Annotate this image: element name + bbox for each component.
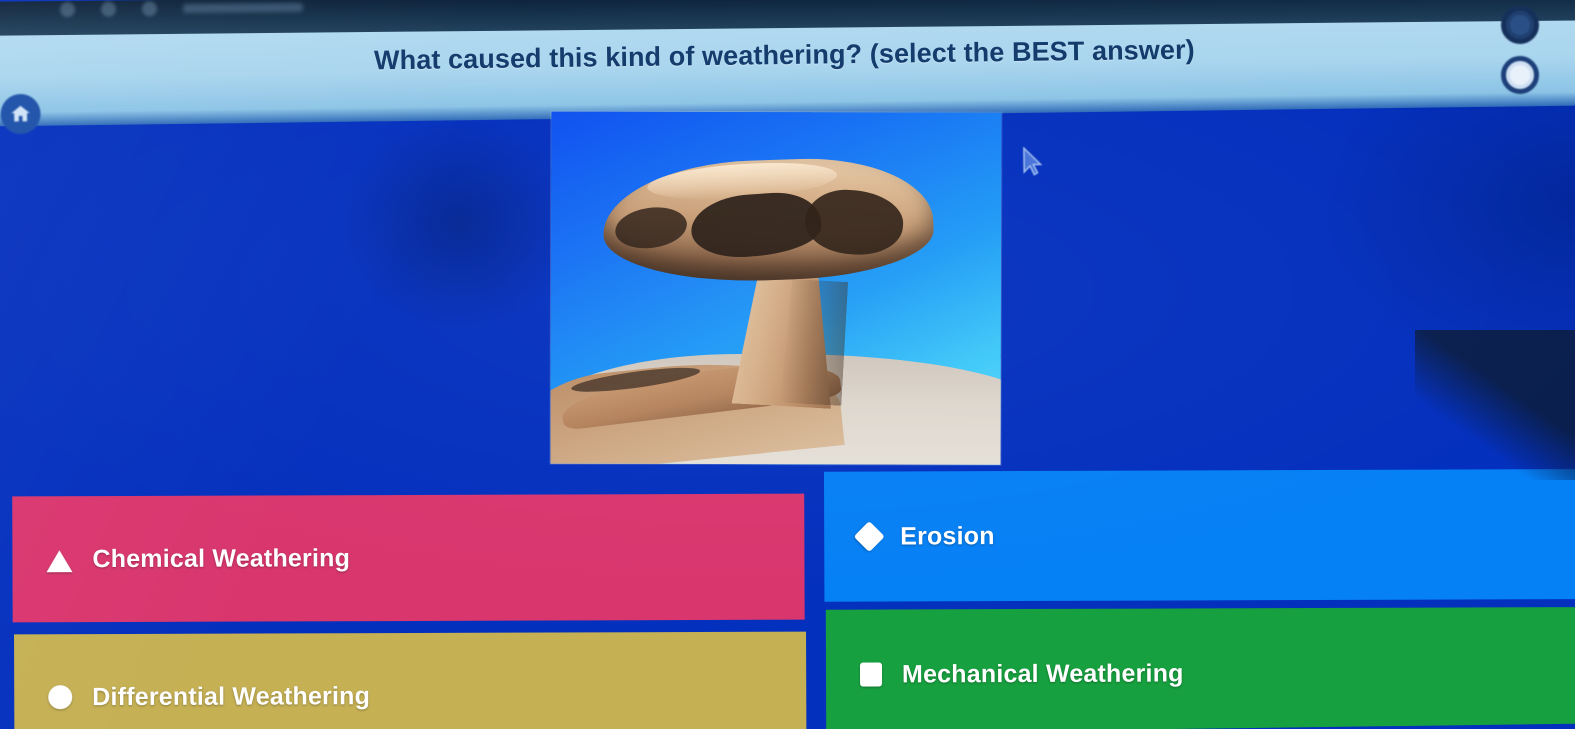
answer-option-mechanical-weathering[interactable]: Mechanical Weathering bbox=[826, 607, 1575, 729]
question-text: What caused this kind of weathering? (se… bbox=[0, 29, 1575, 82]
triangle-icon bbox=[46, 550, 72, 572]
circle-icon[interactable] bbox=[1501, 56, 1539, 94]
mouse-pointer-icon bbox=[1021, 147, 1043, 177]
answer-option-differential-weathering[interactable]: Differential Weathering bbox=[14, 632, 806, 729]
square-icon bbox=[860, 662, 882, 686]
top-right-icon-group bbox=[1501, 6, 1539, 94]
answer-grid: Chemical Weathering Erosion Differential… bbox=[0, 459, 1575, 729]
screen-content-plane: What caused this kind of weathering? (se… bbox=[0, 0, 1575, 729]
browser-tab-strip bbox=[60, 0, 303, 17]
circle-icon-inner bbox=[1510, 15, 1530, 35]
circle-icon[interactable] bbox=[1501, 6, 1539, 44]
circle-icon bbox=[48, 685, 72, 709]
screen-bezel-shadow bbox=[1415, 330, 1575, 480]
answer-label: Mechanical Weathering bbox=[902, 659, 1184, 689]
tab-favicon bbox=[101, 2, 116, 17]
tab-title-bar bbox=[183, 3, 303, 13]
answer-option-erosion[interactable]: Erosion bbox=[824, 469, 1575, 602]
answer-label: Differential Weathering bbox=[92, 682, 370, 712]
tab-favicon bbox=[142, 1, 157, 16]
quiz-screen: What caused this kind of weathering? (se… bbox=[0, 0, 1575, 729]
answer-label: Erosion bbox=[900, 522, 995, 551]
circle-icon-inner bbox=[1510, 65, 1530, 85]
answer-option-chemical-weathering[interactable]: Chemical Weathering bbox=[12, 494, 804, 623]
diamond-icon bbox=[854, 521, 885, 552]
tab-favicon bbox=[60, 2, 75, 17]
answer-label: Chemical Weathering bbox=[92, 544, 350, 574]
question-image bbox=[550, 112, 1001, 465]
photo-vignette-left bbox=[343, 117, 576, 330]
